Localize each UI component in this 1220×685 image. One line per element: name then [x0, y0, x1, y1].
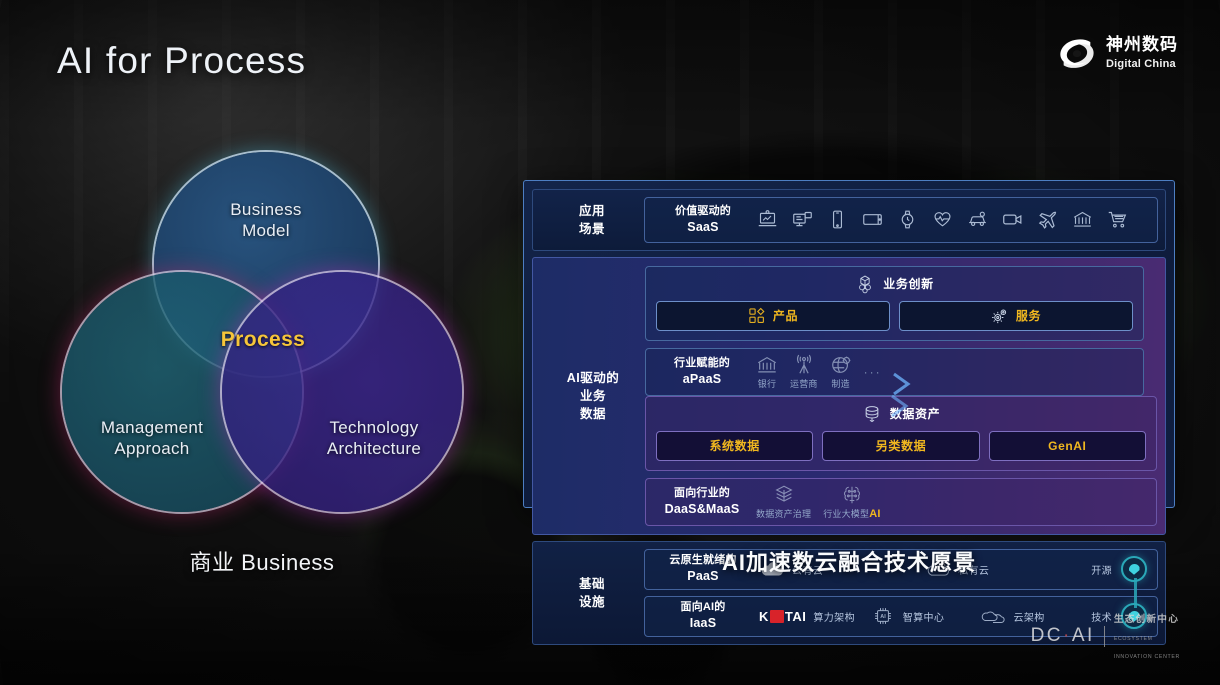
venn-circle-technology-architecture: TechnologyArchitecture: [222, 272, 462, 512]
data-band-halves: 业务创新 产品 服务: [645, 266, 1157, 526]
mini-operator-label: 运营商: [790, 377, 818, 390]
layered-data-icon: [773, 484, 795, 506]
chip-system-data[interactable]: 系统数据: [656, 431, 813, 461]
venn-label-business-line2: Model: [242, 221, 290, 240]
mini-data-governance-label: 数据资产治理: [756, 507, 811, 520]
band-ai-driven-business-data: AI驱动的业务数据 业务创新 产品: [532, 257, 1166, 535]
brand-name-cn: 神州数码: [1106, 35, 1178, 54]
chip-alternative-data-label: 另类数据: [876, 437, 926, 454]
apaas-title: 行业赋能的aPaaS: [654, 356, 750, 388]
chip-genai[interactable]: GenAI: [989, 431, 1146, 461]
ai-chip-icon: AI: [870, 606, 896, 626]
venn-label-business-line1: Business: [230, 200, 301, 219]
venn-diagram: BusinessModel ManagementApproach Technol…: [62, 152, 462, 512]
daas-maas-item-list: 数据资产治理 行业大模型AI: [750, 484, 1148, 520]
application-icon-row: [751, 209, 1128, 230]
blocks-icon: [748, 307, 766, 325]
database-icon: [862, 404, 882, 424]
mini-manufacturing: 制造: [830, 354, 852, 390]
apaas-card: 行业赋能的aPaaS 银行 运营商: [645, 348, 1144, 396]
business-innovation-title: 业务创新: [883, 275, 933, 292]
architecture-caption: AI加速数云融合技术愿景: [523, 545, 1175, 577]
half-data-assets: 数据资产 系统数据 另类数据 GenAI: [645, 396, 1157, 526]
mini-industry-large-model: 行业大模型AI: [823, 484, 880, 520]
band-label-application-scenarios: 应用场景: [540, 197, 644, 243]
band-application-scenarios: 应用场景 价值驱动的SaaS: [532, 189, 1166, 251]
infra-item-compute-architecture: KTAI 算力架构: [759, 609, 866, 624]
page-title: AI for Process: [57, 40, 306, 82]
footer-logo: DC·AI 生态创新中心 ECOSYSTEMINNOVATION CENTER: [1031, 609, 1180, 663]
video-camera-icon: [1002, 209, 1023, 230]
band-label-ai-driven-business-data: AI驱动的业务数据: [541, 266, 645, 526]
infra-label-compute-architecture: 算力架构: [813, 609, 855, 624]
shopping-cart-icon: [1107, 209, 1128, 230]
laptop-chart-icon: [757, 209, 778, 230]
gear-globe-icon: [830, 354, 852, 376]
svg-text:AI: AI: [880, 614, 886, 620]
chip-alternative-data[interactable]: 另类数据: [822, 431, 979, 461]
ring-connector: [1134, 578, 1137, 608]
smartphone-icon: [827, 209, 848, 230]
data-assets-header-card: 数据资产 系统数据 另类数据 GenAI: [645, 396, 1157, 471]
tablet-icon: [862, 209, 883, 230]
footer-en-text: ECOSYSTEMINNOVATION CENTER: [1114, 636, 1180, 660]
chip-service-label: 服务: [1016, 307, 1041, 324]
half-business-innovation: 业务创新 产品 服务: [645, 266, 1144, 396]
gears-icon: [991, 307, 1009, 325]
brain-network-icon: [841, 484, 863, 506]
tile-value-driven-saas: 价值驱动的SaaS: [644, 197, 1158, 243]
daas-maas-title: 面向行业的DaaS&MaaS: [654, 486, 750, 518]
data-assets-title: 数据资产: [890, 405, 940, 422]
bank-icon: [756, 354, 778, 376]
venn-label-management-line1: Management: [101, 418, 203, 437]
tile-title-value-driven-saas: 价值驱动的SaaS: [655, 204, 751, 236]
business-innovation-header-card: 业务创新 产品 服务: [645, 266, 1144, 341]
chip-product[interactable]: 产品: [656, 301, 890, 331]
heartbeat-icon: [932, 209, 953, 230]
desktop-monitor-icon: [792, 209, 813, 230]
venn-caption: 商业 Business: [62, 545, 462, 577]
mini-data-governance: 数据资产治理: [756, 484, 811, 520]
cube-cluster-icon: [855, 274, 875, 294]
slide-canvas: AI for Process 神州数码 Digital China Busine…: [0, 0, 1220, 685]
vehicle-icon: [967, 209, 988, 230]
venn-label-technology-line2: Architecture: [327, 439, 421, 458]
apaas-industry-list: 银行 运营商 制造 ···: [750, 354, 1135, 390]
footer-cn-text: 生态创新中心: [1114, 614, 1179, 625]
brand-logo: 神州数码 Digital China: [1057, 36, 1178, 72]
tile-title-ai-oriented-iaas: 面向AI的IaaS: [655, 600, 751, 632]
infra-item-intelligent-computing-center: AI 智算中心: [870, 606, 977, 626]
mini-bank-label: 银行: [758, 377, 776, 390]
swirl-logo-icon: [1057, 37, 1097, 71]
footer-divider: [1104, 626, 1105, 647]
chip-product-label: 产品: [773, 307, 798, 324]
apaas-more-dots: ···: [864, 365, 882, 379]
daas-maas-card: 面向行业的DaaS&MaaS 数据资产治理 行业大模型AI: [645, 478, 1157, 526]
airplane-icon: [1037, 209, 1058, 230]
mini-industry-large-model-label: 行业大模型AI: [823, 507, 880, 520]
chip-genai-label: GenAI: [1048, 439, 1086, 453]
kutai-logo-icon: KTAI: [759, 609, 806, 624]
smartwatch-icon: [897, 209, 918, 230]
chip-system-data-label: 系统数据: [709, 437, 759, 454]
mini-operator: 运营商: [790, 354, 818, 390]
mini-manufacturing-label: 制造: [831, 377, 849, 390]
multi-cloud-icon: [980, 606, 1006, 626]
bank-icon: [1072, 209, 1093, 230]
footer-dc-ai-text: DC·AI: [1031, 625, 1095, 647]
infra-label-intelligent-computing-center: 智算中心: [903, 609, 945, 624]
venn-label-management-line2: Approach: [114, 439, 189, 458]
venn-label-technology-line1: Technology: [329, 418, 418, 437]
antenna-tower-icon: [793, 354, 815, 376]
chip-service[interactable]: 服务: [899, 301, 1133, 331]
architecture-panel: 应用场景 价值驱动的SaaS: [523, 180, 1175, 508]
brand-name-en: Digital China: [1106, 58, 1176, 70]
mini-bank: 银行: [756, 354, 778, 390]
